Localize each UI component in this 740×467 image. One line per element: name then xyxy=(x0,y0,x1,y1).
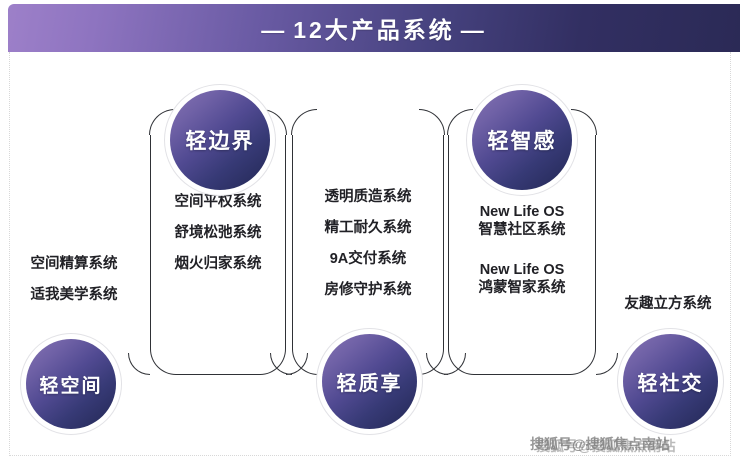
group-quality-items: 透明质造系统 精工耐久系统 9A交付系统 房修守护系统 xyxy=(294,188,442,300)
title-dash-left: — xyxy=(255,17,293,44)
node-label: 轻智感 xyxy=(488,125,557,155)
group-social-items: 友趣立方系统 xyxy=(603,295,733,313)
list-item: 舒境松弛系统 xyxy=(152,224,284,242)
group-space-items: 空间精算系统 适我美学系统 xyxy=(8,255,140,304)
list-item: 透明质造系统 xyxy=(294,188,442,206)
header-banner: —12大产品系统— xyxy=(8,4,740,52)
list-item: 空间精算系统 xyxy=(8,255,140,273)
node-label: 轻质享 xyxy=(337,367,403,396)
list-item: 烟火归家系统 xyxy=(152,255,284,273)
list-item: 房修守护系统 xyxy=(294,281,442,299)
page-title: —12大产品系统— xyxy=(255,11,493,45)
node-circle-qing-zhi-xiang[interactable]: 轻质享 xyxy=(322,334,417,429)
title-text: 12大产品系统 xyxy=(293,17,455,43)
node-label: 轻社交 xyxy=(638,367,704,396)
list-item: 友趣立方系统 xyxy=(603,295,733,313)
list-item: 空间平权系统 xyxy=(152,193,284,211)
node-circle-qing-kong-jian[interactable]: 轻空间 xyxy=(26,339,116,429)
title-dash-right: — xyxy=(455,17,493,44)
list-item: New Life OS 智慧社区系统 xyxy=(450,203,594,239)
node-circle-qing-zhi-gan[interactable]: 轻智感 xyxy=(472,90,572,190)
list-item: 精工耐久系统 xyxy=(294,219,442,237)
node-circle-qing-bian-jie[interactable]: 轻边界 xyxy=(170,90,270,190)
node-label: 轻边界 xyxy=(186,125,255,155)
infographic-page: —12大产品系统— 空间精算系统 适我美学系统 空间平权系统 舒境松弛系统 烟火… xyxy=(0,0,740,467)
node-circle-qing-she-jiao[interactable]: 轻社交 xyxy=(623,334,718,429)
group-boundary-items: 空间平权系统 舒境松弛系统 烟火归家系统 xyxy=(152,193,284,273)
list-item: 9A交付系统 xyxy=(294,250,442,268)
group-smart-items: New Life OS 智慧社区系统 New Life OS 鸿蒙智家系统 xyxy=(450,203,594,298)
list-item: New Life OS 鸿蒙智家系统 xyxy=(450,261,594,297)
list-item: 适我美学系统 xyxy=(8,286,140,304)
node-label: 轻空间 xyxy=(39,371,102,398)
